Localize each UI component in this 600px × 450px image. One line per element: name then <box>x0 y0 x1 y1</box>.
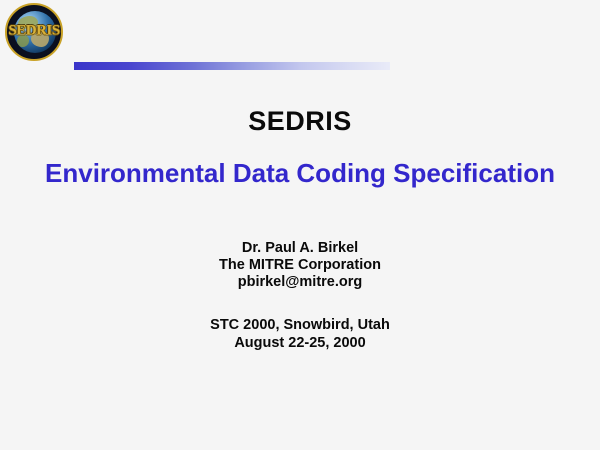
logo-disc: SEDRIS <box>5 3 63 61</box>
page-subtitle: Environmental Data Coding Specification <box>0 158 600 189</box>
author-organization: The MITRE Corporation <box>0 257 600 274</box>
conference-event: STC 2000, Snowbird, Utah <box>0 316 600 334</box>
author-name: Dr. Paul A. Birkel <box>0 240 600 257</box>
page-title: SEDRIS <box>0 106 600 137</box>
conference-block: STC 2000, Snowbird, Utah August 22-25, 2… <box>0 316 600 352</box>
author-block: Dr. Paul A. Birkel The MITRE Corporation… <box>0 240 600 291</box>
logo-wordmark: SEDRIS <box>7 23 61 40</box>
presentation-slide: SEDRIS SEDRIS Environmental Data Coding … <box>0 0 600 450</box>
author-email: pbirkel@mitre.org <box>0 274 600 291</box>
gradient-rule <box>74 62 390 70</box>
conference-dates: August 22-25, 2000 <box>0 334 600 352</box>
sedris-logo: SEDRIS <box>5 3 63 61</box>
